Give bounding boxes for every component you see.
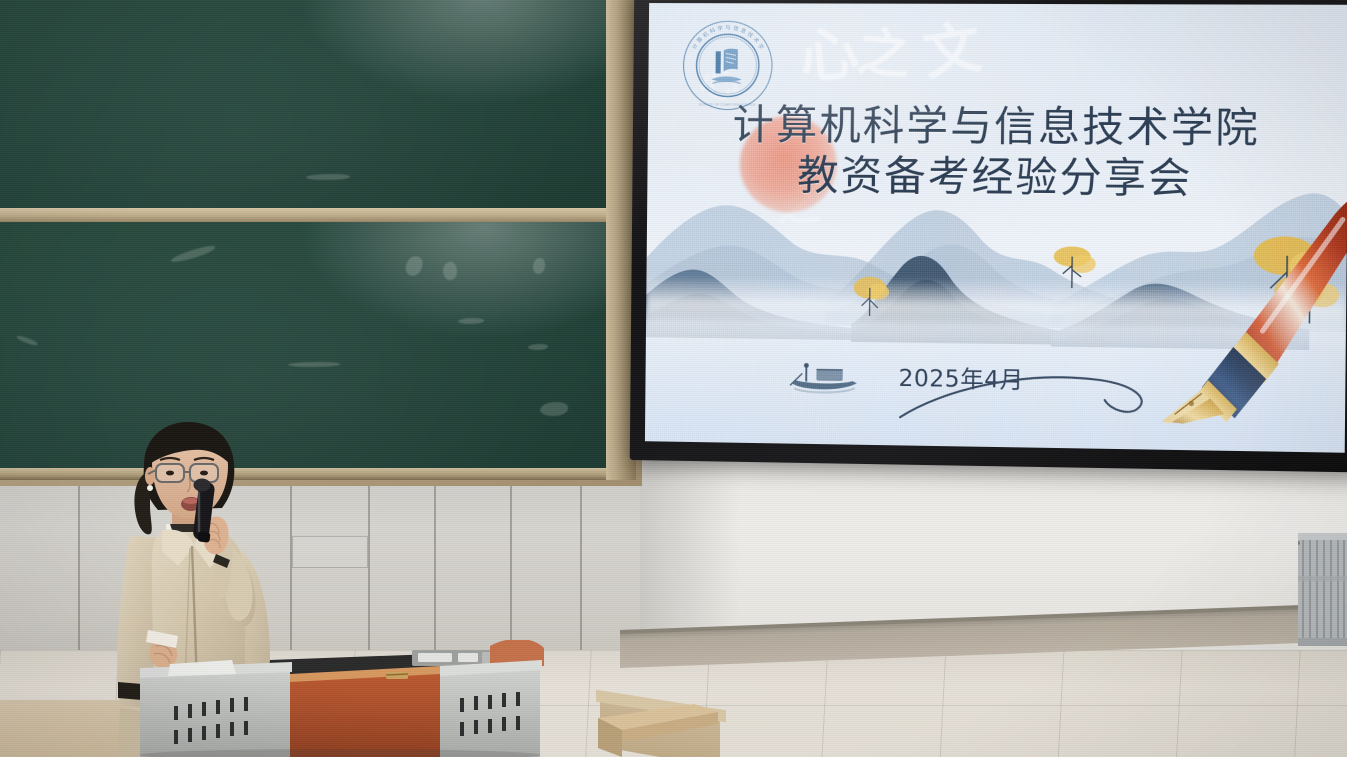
svg-text:学: 学 <box>717 24 725 33</box>
classroom-photo: 心 之 文 心 之 <box>0 0 1347 757</box>
golden-ginkgo-tree-center <box>1047 243 1103 292</box>
slide-title-line1: 计算机科学与信息技术学院 <box>732 101 1260 153</box>
svg-text:与: 与 <box>725 23 730 31</box>
watermark-char-2: 之 <box>854 9 914 89</box>
lectern[interactable] <box>140 640 620 757</box>
blackboard-panel-upper <box>0 0 624 210</box>
screen-display-area[interactable]: 心 之 文 心 之 <box>645 3 1347 453</box>
blackboard-frame <box>0 0 642 486</box>
watermark-char-3: 文 <box>917 3 986 91</box>
fountain-pen-icon <box>1137 189 1347 426</box>
svg-text:科: 科 <box>708 26 717 36</box>
front-row-desk <box>598 702 718 757</box>
svg-text:信: 信 <box>732 24 740 33</box>
university-seal-logo: 计 算 机 科 学 与 信 息 技 术 学 <box>681 19 774 112</box>
watermark-char-1: 心 <box>795 5 861 95</box>
golden-ginkgo-tree-small-left <box>847 273 896 318</box>
wall-mounted-smart-display[interactable]: 心 之 文 心 之 <box>630 0 1347 472</box>
svg-text:学: 学 <box>756 42 766 51</box>
cast-iron-radiator <box>1298 528 1347 650</box>
presentation-slide: 心 之 文 心 之 <box>645 3 1347 453</box>
